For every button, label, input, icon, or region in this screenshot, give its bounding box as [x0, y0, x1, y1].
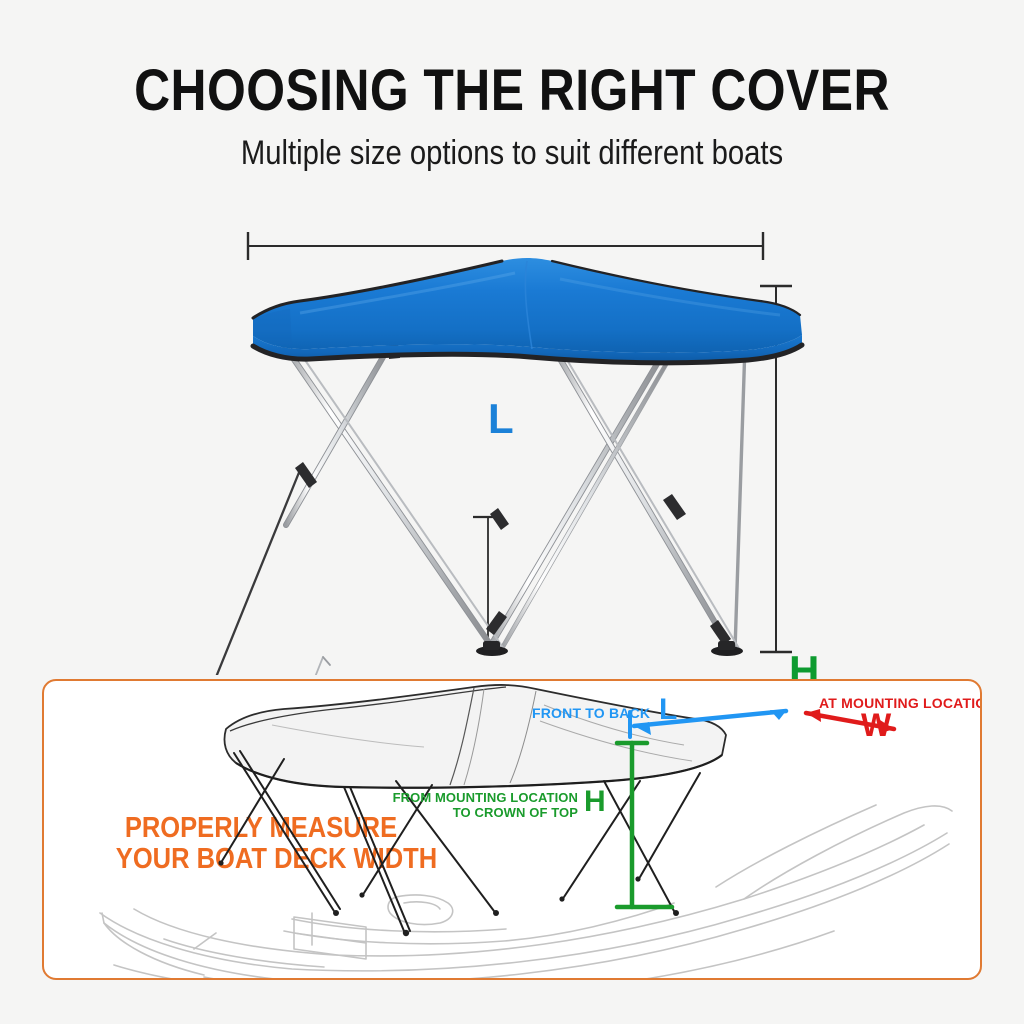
bimini-frame: [148, 342, 745, 675]
boat-with-bimini-diagram: [44, 681, 982, 980]
blue-canopy: [253, 258, 802, 363]
panel-length-letter: L: [659, 693, 677, 727]
panel-mount-points: [218, 860, 679, 936]
mounting-feet: [476, 641, 743, 656]
panel-height-letter: H: [584, 785, 606, 819]
at-mounting-location-label: AT MOUNTING LOCATION: [819, 695, 982, 711]
panel-width-letter: W: [861, 707, 891, 744]
page-subtitle: Multiple size options to suit different …: [72, 136, 953, 170]
from-mounting-line-2: TO CROWN OF TOP: [360, 805, 578, 820]
boat-outline: [100, 805, 952, 980]
length-dimension-line: [248, 232, 763, 260]
measurement-panel: PROPERLY MEASURE YOUR BOAT DECK WIDTH: [42, 679, 982, 980]
header: CHOOSING THE RIGHT COVER Multiple size o…: [0, 62, 1024, 170]
length-label-L: L: [488, 395, 514, 443]
from-mounting-location-label: FROM MOUNTING LOCATION TO CROWN OF TOP: [360, 790, 578, 821]
frame-fittings: [295, 342, 731, 645]
infographic-page: CHOOSING THE RIGHT COVER Multiple size o…: [0, 0, 1024, 1024]
hero-illustration: L W H: [0, 195, 1024, 675]
front-to-back-label: FRONT TO BACK: [532, 705, 650, 721]
page-title: CHOOSING THE RIGHT COVER: [72, 62, 953, 120]
from-mounting-line-1: FROM MOUNTING LOCATION: [360, 790, 578, 805]
